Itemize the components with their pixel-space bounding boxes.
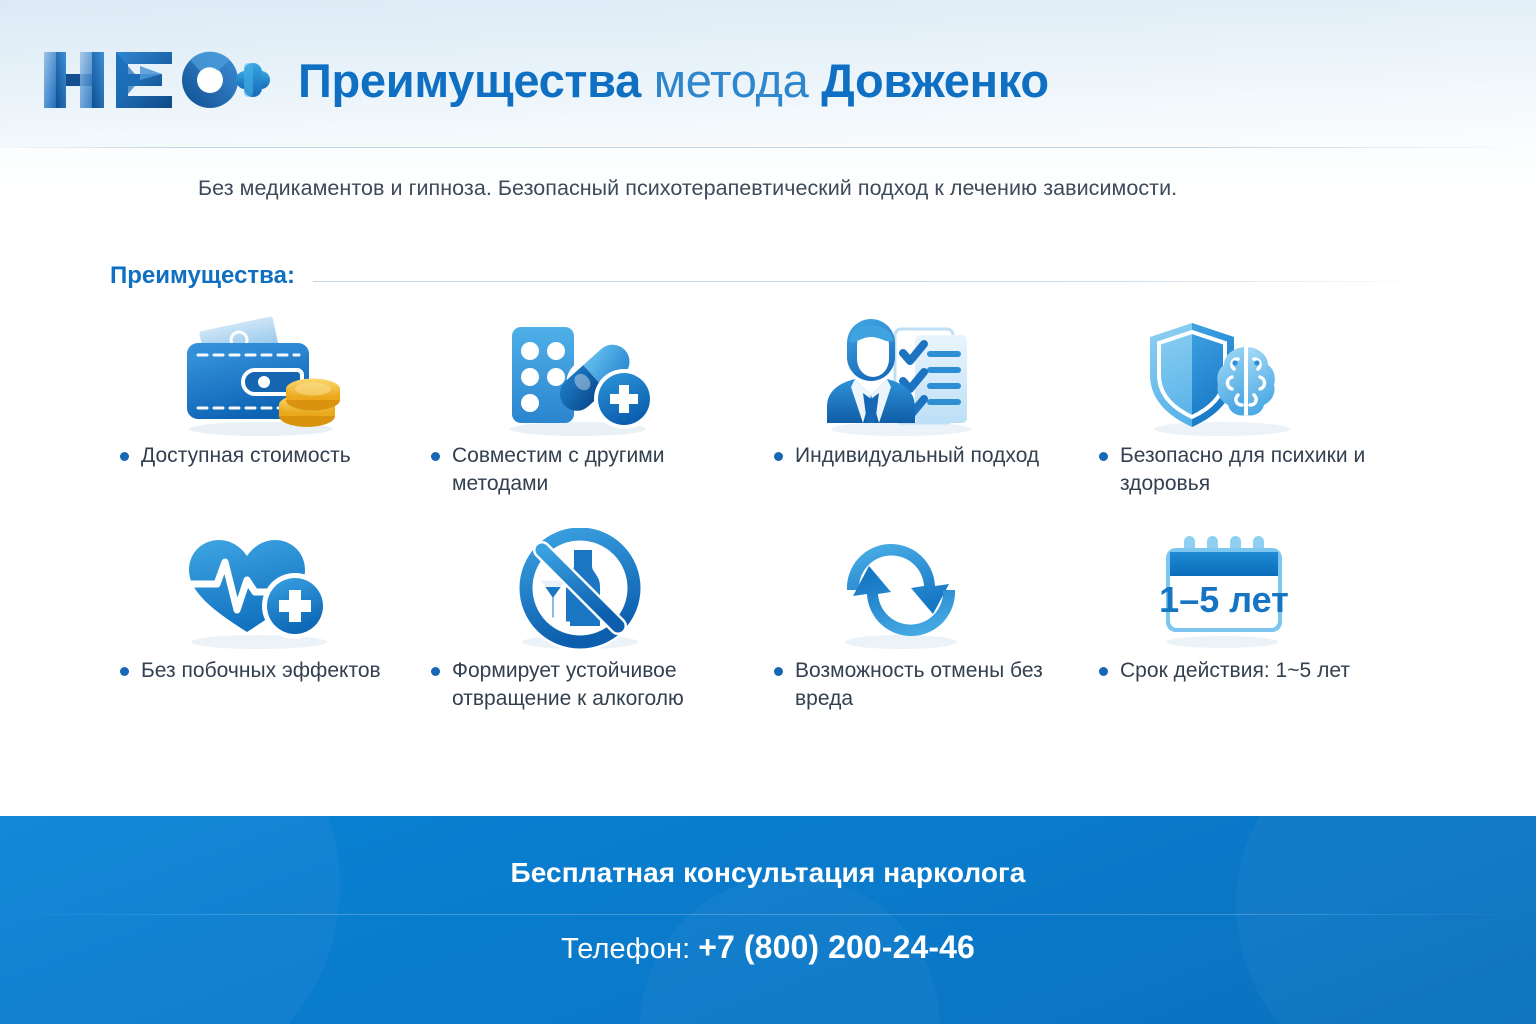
bullet-dot-icon	[431, 667, 440, 676]
benefit-caption: Безопасно для психики и здоровья	[1067, 442, 1378, 497]
benefit-caption: Формирует устойчивое отвращение к алкого…	[425, 655, 736, 712]
benefit-label: Индивидуальный подход	[795, 442, 1039, 470]
benefit-caption: Индивидуальный подход	[746, 442, 1057, 470]
benefit-item: Формирует устойчивое отвращение к алкого…	[425, 523, 736, 736]
benefit-label: Возможность отмены без вреда	[795, 657, 1051, 712]
benefit-label: Формирует устойчивое отвращение к алкого…	[452, 657, 730, 712]
benefit-item: 1–5 лет Срок действия: 1~5 лет	[1067, 523, 1378, 736]
section-divider	[313, 281, 1440, 282]
calendar-duration-icon: 1–5 лет	[1132, 528, 1314, 650]
footer-divider	[0, 914, 1536, 915]
page-title: Преимущества метода Довженко	[298, 57, 1049, 104]
benefit-icon-wrap	[425, 523, 736, 655]
bullet-dot-icon	[1099, 667, 1108, 676]
benefit-caption: Доступная стоимость	[104, 442, 415, 470]
calendar-text: 1–5 лет	[1159, 579, 1289, 620]
benefit-icon-wrap	[746, 310, 1057, 442]
bullet-dot-icon	[120, 452, 129, 461]
bullet-dot-icon	[431, 452, 440, 461]
bullet-dot-icon	[120, 667, 129, 676]
benefits-grid: Доступная стоимость	[104, 310, 1434, 736]
shield-brain-icon	[1132, 315, 1314, 437]
benefit-caption: Совместим с другими методами	[425, 442, 736, 497]
benefit-item: Индивидуальный подход	[746, 310, 1057, 523]
benefit-label: Безопасно для психики и здоровья	[1120, 442, 1372, 497]
benefit-icon-wrap	[425, 310, 736, 442]
section-header-label: Преимущества:	[110, 262, 295, 290]
header-inner: Преимущества метода Довженко	[40, 44, 1049, 116]
heart-pulse-plus-icon	[169, 528, 351, 650]
benefit-label: Срок действия: 1~5 лет	[1120, 657, 1350, 685]
benefit-label: Доступная стоимость	[141, 442, 351, 470]
reversible-arrows-icon	[811, 528, 993, 650]
footer-phone-row: Телефон:+7 (800) 200-24-46	[0, 929, 1536, 966]
title-regular: метода	[654, 54, 809, 107]
section-header: Преимущества:	[110, 262, 1440, 290]
infographic-poster: Преимущества метода Довженко Без медикам…	[0, 0, 1536, 1024]
header-band: Преимущества метода Довженко	[0, 0, 1536, 148]
phone-label: Телефон:	[561, 933, 690, 965]
benefit-caption: Срок действия: 1~5 лет	[1067, 655, 1378, 685]
benefit-icon-wrap	[104, 310, 415, 442]
benefit-label: Совместим с другими методами	[452, 442, 730, 497]
doctor-checklist-icon	[811, 315, 993, 437]
benefit-caption: Возможность отмены без вреда	[746, 655, 1057, 712]
benefit-icon-wrap	[746, 523, 1057, 655]
phone-number[interactable]: +7 (800) 200-24-46	[698, 929, 975, 965]
benefit-item: Безопасно для психики и здоровья	[1067, 310, 1378, 523]
subtitle: Без медикаментов и гипноза. Безопасный п…	[198, 176, 1177, 201]
no-alcohol-icon	[490, 528, 672, 650]
footer-cta-band: Бесплатная консультация нарколога Телефо…	[0, 816, 1536, 1024]
neo-plus-logo-icon	[40, 44, 272, 116]
pills-capsule-plus-icon	[490, 315, 672, 437]
title-bold-first: Преимущества	[298, 54, 641, 107]
benefit-item: Совместим с другими методами	[425, 310, 736, 523]
benefit-icon-wrap: 1–5 лет	[1067, 523, 1378, 655]
title-bold-second: Довженко	[821, 54, 1048, 107]
benefit-item: Доступная стоимость	[104, 310, 415, 523]
bullet-dot-icon	[774, 667, 783, 676]
benefit-icon-wrap	[1067, 310, 1378, 442]
wallet-coins-icon	[169, 315, 351, 437]
benefit-item: Возможность отмены без вреда	[746, 523, 1057, 736]
bullet-dot-icon	[774, 452, 783, 461]
bullet-dot-icon	[1099, 452, 1108, 461]
benefit-icon-wrap	[104, 523, 415, 655]
footer-headline: Бесплатная консультация нарколога	[0, 857, 1536, 889]
